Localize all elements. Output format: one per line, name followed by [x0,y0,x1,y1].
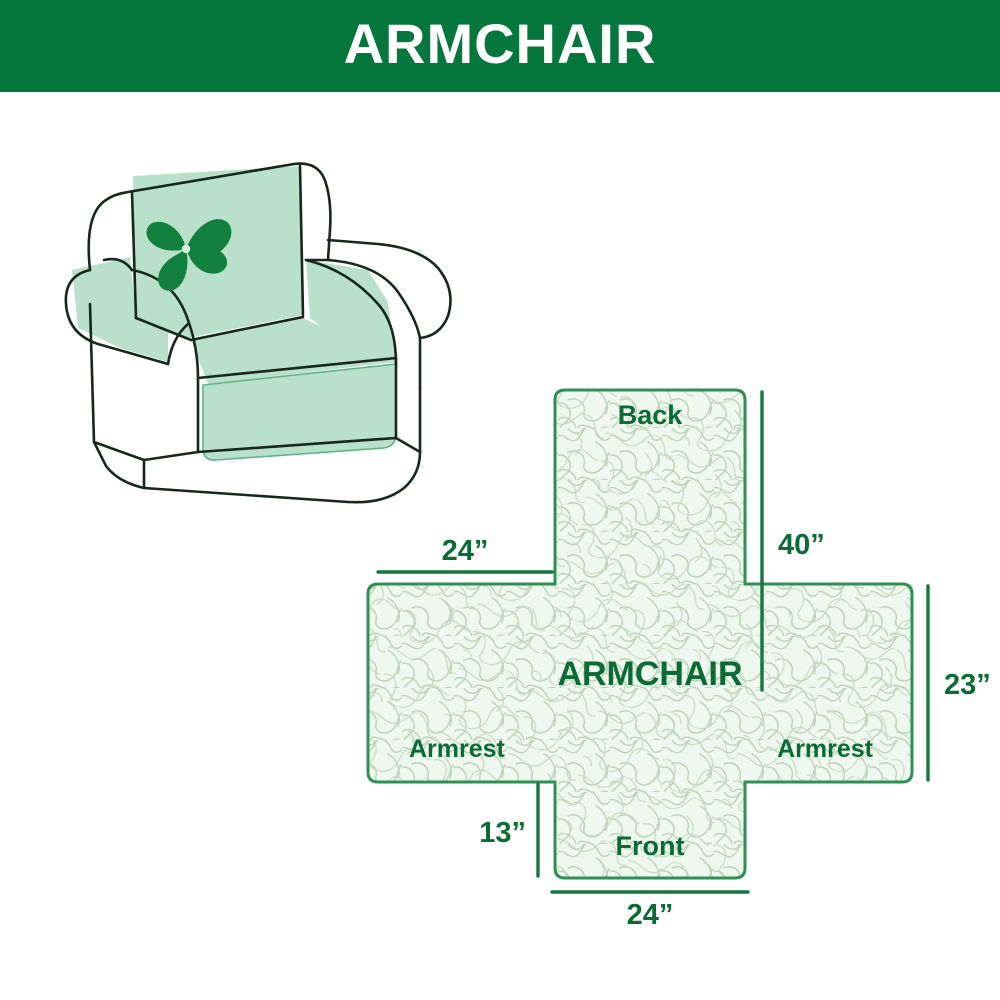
dimension-body-height-label: 23” [944,669,991,701]
dimension-back-height-label: 40” [778,529,825,561]
panel-label-back: Back [618,400,684,430]
page-title: ARMCHAIR [344,16,657,76]
panel-label-armrest-right: Armrest [777,735,874,763]
dimension-front-width-label: 24” [627,899,674,931]
slipcover-pattern-diagram: Back Armrest Armrest Front ARMCHAIR 40” … [350,272,1000,972]
diagram-center-label: ARMCHAIR [557,655,742,693]
dimension-front-height-label: 13” [479,817,526,849]
content-area: Back Armrest Armrest Front ARMCHAIR 40” … [0,92,1000,1000]
panel-label-front: Front [616,831,685,861]
panel-label-armrest-left: Armrest [409,735,506,763]
cross-shape [350,272,1000,972]
dimension-back-width-label: 24” [442,535,489,567]
header-bar: ARMCHAIR [0,0,1000,92]
dimension-back-width: 24” [378,535,552,572]
dimension-front-height: 13” [479,784,538,876]
dimension-body-height: 23” [928,586,991,780]
dimension-front-width: 24” [552,892,748,931]
